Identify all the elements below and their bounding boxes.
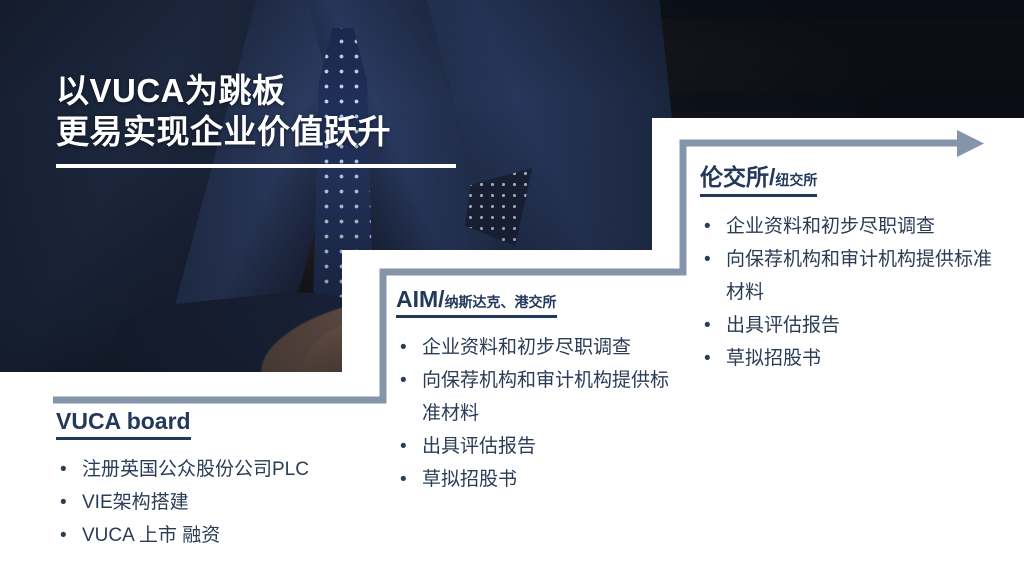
step-block-lse: 伦交所/纽交所 企业资料和初步尽职调查 向保荐机构和审计机构提供标准材料 出具评… — [700, 158, 1000, 375]
list-item: VUCA 上市 融资 — [56, 519, 376, 552]
list-item: 企业资料和初步尽职调查 — [700, 210, 1000, 243]
list-item: 出具评估报告 — [396, 430, 676, 463]
list-item: 企业资料和初步尽职调查 — [396, 331, 676, 364]
title-line-1: 以VUCA为跳板 — [56, 70, 526, 111]
list-item: 注册英国公众股份公司PLC — [56, 453, 376, 486]
bullet-list-aim: 企业资料和初步尽职调查 向保荐机构和审计机构提供标准材料 出具评估报告 草拟招股… — [396, 331, 676, 496]
title-line-2: 更易实现企业价值跃升 — [56, 111, 526, 152]
list-item: 向保荐机构和审计机构提供标准材料 — [700, 243, 1000, 309]
bullet-list-lse: 企业资料和初步尽职调查 向保荐机构和审计机构提供标准材料 出具评估报告 草拟招股… — [700, 210, 1000, 375]
block-heading-aim: AIM/纳斯达克、港交所 — [396, 286, 557, 318]
heading-main-text: AIM/ — [396, 286, 445, 312]
list-item: 向保荐机构和审计机构提供标准材料 — [396, 364, 676, 430]
list-item: 草拟招股书 — [396, 463, 676, 496]
heading-sub-text: 纽交所 — [775, 172, 817, 188]
arrow-head — [957, 130, 984, 157]
list-item: 草拟招股书 — [700, 342, 1000, 375]
heading-main-text: 伦交所/ — [700, 164, 775, 190]
heading-main-text: VUCA board — [56, 408, 191, 434]
bullet-list-vuca-board: 注册英国公众股份公司PLC VIE架构搭建 VUCA 上市 融资 — [56, 453, 376, 552]
block-heading-vuca-board: VUCA board — [56, 408, 191, 440]
slide-canvas: 以VUCA为跳板 更易实现企业价值跃升 VUCA board 注册英国公众股份公… — [0, 0, 1024, 576]
list-item: 出具评估报告 — [700, 309, 1000, 342]
list-item: VIE架构搭建 — [56, 486, 376, 519]
heading-sub-text: 纳斯达克、港交所 — [445, 294, 557, 310]
step-block-aim: AIM/纳斯达克、港交所 企业资料和初步尽职调查 向保荐机构和审计机构提供标准材… — [396, 286, 676, 496]
title-underline-rule — [56, 164, 456, 168]
step-block-vuca-board: VUCA board 注册英国公众股份公司PLC VIE架构搭建 VUCA 上市… — [56, 408, 376, 552]
slide-title: 以VUCA为跳板 更易实现企业价值跃升 — [56, 70, 526, 168]
block-heading-lse: 伦交所/纽交所 — [700, 158, 817, 197]
